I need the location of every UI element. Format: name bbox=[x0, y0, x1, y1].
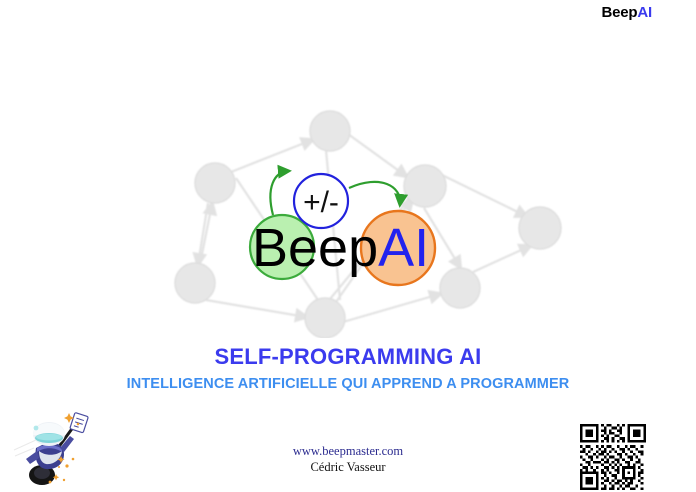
slide-canvas: BeepAI bbox=[0, 0, 696, 492]
robot-mascot bbox=[12, 404, 98, 490]
bg-node bbox=[195, 163, 235, 203]
page-title: SELF-PROGRAMMING AI bbox=[0, 344, 696, 370]
page-subtitle: INTELLIGENCE ARTIFICIELLE QUI APPREND A … bbox=[0, 376, 696, 392]
bg-node bbox=[175, 263, 215, 303]
hero-wordmark: BeepAI bbox=[252, 218, 429, 278]
arrow-operator-to-ai bbox=[349, 182, 400, 204]
brand-logo-beep: Beep bbox=[602, 4, 638, 21]
hero-word-ai: AI bbox=[378, 218, 429, 278]
bg-node bbox=[440, 268, 480, 308]
bg-node bbox=[310, 111, 350, 151]
operator-label: +/- bbox=[303, 186, 339, 219]
hero-graphic: +/- BeepAI bbox=[140, 88, 580, 338]
bg-node bbox=[519, 207, 561, 249]
brand-logo: BeepAI bbox=[602, 4, 653, 21]
brand-logo-ai: AI bbox=[637, 4, 652, 21]
mascot-wand-card bbox=[70, 412, 89, 432]
bg-node bbox=[404, 165, 446, 207]
arrow-beep-to-operator bbox=[270, 171, 288, 215]
qr-code[interactable] bbox=[580, 424, 646, 490]
hero-word-beep: Beep bbox=[252, 218, 378, 278]
bg-node bbox=[305, 298, 345, 338]
